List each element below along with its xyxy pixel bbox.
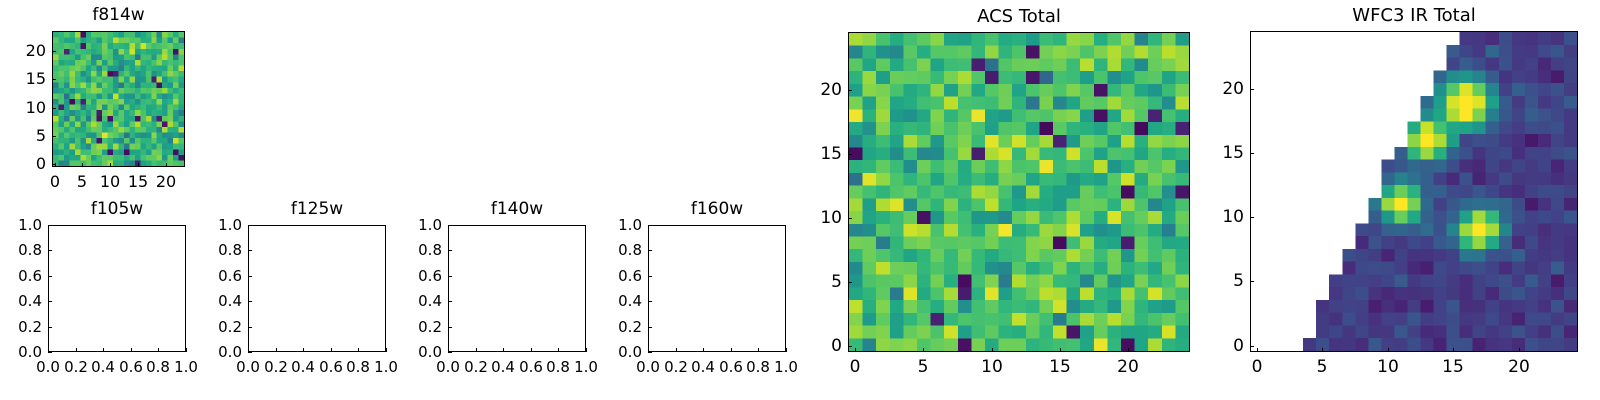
xtick-f160w-5 <box>786 348 787 352</box>
ytick-label-f125w-3: 0.6 <box>190 268 242 284</box>
xtick-label-f814w-4: 20 <box>156 174 176 190</box>
xtick-label-f125w-1: 0.2 <box>264 359 288 375</box>
xtick-label-f160w-5: 1.0 <box>774 359 798 375</box>
ytick-label-f140w-4: 0.8 <box>390 242 442 258</box>
heatmap-image-wfc3_ir_total <box>1251 32 1577 351</box>
xtick-f125w-5 <box>386 348 387 352</box>
xtick-label-wfc3_ir_total-2: 10 <box>1377 359 1399 375</box>
heatmap-image-f814w <box>53 32 184 166</box>
panel-title-f125w: f125w <box>248 201 386 218</box>
xtick-label-f125w-3: 0.6 <box>319 359 343 375</box>
ytick-label-f125w-1: 0.2 <box>190 319 242 335</box>
ytick-label-f105w-1: 0.2 <box>0 319 42 335</box>
ytick-label-f105w-3: 0.6 <box>0 268 42 284</box>
panel-title-f814w: f814w <box>52 7 185 24</box>
xtick-label-acs_total-0: 0 <box>850 359 861 375</box>
xtick-label-f140w-2: 0.4 <box>491 359 515 375</box>
ytick-f140w-2 <box>448 301 452 302</box>
ytick-f140w-4 <box>448 250 452 251</box>
ytick-f814w-2 <box>52 108 56 109</box>
ytick-f125w-5 <box>248 225 252 226</box>
xtick-label-f160w-1: 0.2 <box>664 359 688 375</box>
ytick-f140w-5 <box>448 225 452 226</box>
xtick-label-f814w-0: 0 <box>50 174 60 190</box>
ytick-acs_total-1 <box>848 282 852 283</box>
ytick-label-f125w-2: 0.4 <box>190 293 242 309</box>
xtick-f140w-4 <box>558 348 559 352</box>
plot-area-acs_total <box>848 32 1190 352</box>
panel-title-f140w: f140w <box>448 201 586 218</box>
xtick-label-f125w-4: 0.8 <box>346 359 370 375</box>
xtick-label-f160w-0: 0.0 <box>636 359 660 375</box>
ytick-f105w-1 <box>48 327 52 328</box>
ytick-f160w-5 <box>648 225 652 226</box>
ytick-f814w-4 <box>52 51 56 52</box>
ytick-f160w-1 <box>648 327 652 328</box>
xtick-label-wfc3_ir_total-1: 5 <box>1317 359 1328 375</box>
xtick-label-f125w-0: 0.0 <box>236 359 260 375</box>
ytick-label-f105w-5: 1.0 <box>0 217 42 233</box>
ytick-label-f160w-4: 0.8 <box>590 242 642 258</box>
ytick-acs_total-2 <box>848 218 852 219</box>
ytick-label-f125w-5: 1.0 <box>190 217 242 233</box>
xtick-acs_total-4 <box>1128 348 1129 352</box>
ytick-label-f160w-2: 0.4 <box>590 293 642 309</box>
ytick-label-f160w-0: 0.0 <box>590 344 642 360</box>
xtick-label-f140w-1: 0.2 <box>464 359 488 375</box>
xtick-f814w-4 <box>166 163 167 167</box>
ytick-label-f140w-3: 0.6 <box>390 268 442 284</box>
ytick-f814w-0 <box>52 164 56 165</box>
xtick-acs_total-1 <box>923 348 924 352</box>
xtick-wfc3_ir_total-0 <box>1257 348 1258 352</box>
ytick-label-f105w-2: 0.4 <box>0 293 42 309</box>
xtick-f105w-1 <box>76 348 77 352</box>
ytick-acs_total-3 <box>848 154 852 155</box>
panel-title-f160w: f160w <box>648 201 786 218</box>
ytick-f105w-5 <box>48 225 52 226</box>
xtick-label-acs_total-3: 15 <box>1049 359 1071 375</box>
ytick-label-wfc3_ir_total-4: 20 <box>1192 81 1244 97</box>
ytick-label-f125w-4: 0.8 <box>190 242 242 258</box>
xtick-label-f125w-5: 1.0 <box>374 359 398 375</box>
ytick-f140w-0 <box>448 352 452 353</box>
ytick-label-wfc3_ir_total-1: 5 <box>1192 273 1244 289</box>
plot-area-f125w <box>248 225 386 352</box>
xtick-wfc3_ir_total-3 <box>1453 348 1454 352</box>
ytick-wfc3_ir_total-2 <box>1250 217 1254 218</box>
panel-title-acs_total: ACS Total <box>848 8 1190 25</box>
ytick-label-f814w-3: 15 <box>0 71 46 87</box>
xtick-label-f814w-2: 10 <box>100 174 120 190</box>
xtick-label-f140w-5: 1.0 <box>574 359 598 375</box>
ytick-f125w-1 <box>248 327 252 328</box>
xtick-f160w-4 <box>758 348 759 352</box>
xtick-f125w-1 <box>276 348 277 352</box>
xtick-f140w-1 <box>476 348 477 352</box>
ytick-wfc3_ir_total-4 <box>1250 89 1254 90</box>
ytick-label-f814w-2: 10 <box>0 100 46 116</box>
xtick-f140w-5 <box>586 348 587 352</box>
xtick-f105w-2 <box>103 348 104 352</box>
heatmap-image-acs_total <box>849 33 1189 351</box>
xtick-f814w-3 <box>138 163 139 167</box>
xtick-label-f105w-3: 0.6 <box>119 359 143 375</box>
xtick-label-f160w-3: 0.6 <box>719 359 743 375</box>
xtick-label-acs_total-4: 20 <box>1117 359 1139 375</box>
xtick-label-wfc3_ir_total-3: 15 <box>1442 359 1464 375</box>
xtick-f160w-2 <box>703 348 704 352</box>
xtick-label-wfc3_ir_total-0: 0 <box>1252 359 1263 375</box>
ytick-label-f140w-1: 0.2 <box>390 319 442 335</box>
ytick-f814w-3 <box>52 79 56 80</box>
xtick-wfc3_ir_total-2 <box>1388 348 1389 352</box>
ytick-f125w-0 <box>248 352 252 353</box>
xtick-label-f160w-2: 0.4 <box>691 359 715 375</box>
ytick-f125w-3 <box>248 276 252 277</box>
ytick-label-f814w-0: 0 <box>0 156 46 172</box>
xtick-label-f814w-3: 15 <box>128 174 148 190</box>
xtick-f125w-3 <box>331 348 332 352</box>
ytick-label-f140w-5: 1.0 <box>390 217 442 233</box>
ytick-label-f105w-4: 0.8 <box>0 242 42 258</box>
ytick-label-f105w-0: 0.0 <box>0 344 42 360</box>
xtick-label-f160w-4: 0.8 <box>746 359 770 375</box>
ytick-f814w-1 <box>52 136 56 137</box>
ytick-label-acs_total-2: 10 <box>790 210 842 226</box>
ytick-label-acs_total-1: 5 <box>790 274 842 290</box>
xtick-label-f105w-1: 0.2 <box>64 359 88 375</box>
xtick-label-f140w-3: 0.6 <box>519 359 543 375</box>
xtick-f814w-1 <box>82 163 83 167</box>
ytick-label-f140w-2: 0.4 <box>390 293 442 309</box>
xtick-label-f125w-2: 0.4 <box>291 359 315 375</box>
xtick-f105w-4 <box>158 348 159 352</box>
xtick-acs_total-0 <box>855 348 856 352</box>
ytick-f160w-2 <box>648 301 652 302</box>
xtick-acs_total-2 <box>992 348 993 352</box>
xtick-f160w-3 <box>731 348 732 352</box>
xtick-label-f105w-4: 0.8 <box>146 359 170 375</box>
ytick-f140w-1 <box>448 327 452 328</box>
ytick-f125w-4 <box>248 250 252 251</box>
xtick-label-acs_total-1: 5 <box>918 359 929 375</box>
ytick-f105w-2 <box>48 301 52 302</box>
xtick-f160w-1 <box>676 348 677 352</box>
plot-area-f814w <box>52 31 185 167</box>
ytick-label-acs_total-3: 15 <box>790 146 842 162</box>
xtick-f140w-2 <box>503 348 504 352</box>
ytick-label-wfc3_ir_total-0: 0 <box>1192 338 1244 354</box>
ytick-acs_total-4 <box>848 90 852 91</box>
ytick-f105w-4 <box>48 250 52 251</box>
xtick-label-f105w-2: 0.4 <box>91 359 115 375</box>
xtick-f125w-2 <box>303 348 304 352</box>
ytick-label-f125w-0: 0.0 <box>190 344 242 360</box>
plot-area-f105w <box>48 225 186 352</box>
ytick-label-wfc3_ir_total-2: 10 <box>1192 209 1244 225</box>
ytick-label-f814w-4: 20 <box>0 43 46 59</box>
xtick-label-f814w-1: 5 <box>77 174 87 190</box>
ytick-f160w-4 <box>648 250 652 251</box>
plot-area-f160w <box>648 225 786 352</box>
xtick-label-f140w-4: 0.8 <box>546 359 570 375</box>
xtick-label-f140w-0: 0.0 <box>436 359 460 375</box>
ytick-label-acs_total-4: 20 <box>790 82 842 98</box>
xtick-acs_total-3 <box>1060 348 1061 352</box>
panel-title-f105w: f105w <box>48 201 186 218</box>
ytick-f160w-3 <box>648 276 652 277</box>
xtick-f140w-3 <box>531 348 532 352</box>
ytick-f105w-3 <box>48 276 52 277</box>
xtick-f105w-5 <box>186 348 187 352</box>
ytick-label-f814w-1: 5 <box>0 128 46 144</box>
ytick-label-wfc3_ir_total-3: 15 <box>1192 145 1244 161</box>
xtick-f125w-4 <box>358 348 359 352</box>
ytick-label-f160w-3: 0.6 <box>590 268 642 284</box>
ytick-label-f160w-1: 0.2 <box>590 319 642 335</box>
ytick-acs_total-0 <box>848 346 852 347</box>
plot-area-wfc3_ir_total <box>1250 31 1578 352</box>
xtick-f814w-2 <box>110 163 111 167</box>
ytick-wfc3_ir_total-0 <box>1250 346 1254 347</box>
xtick-f105w-3 <box>131 348 132 352</box>
ytick-label-acs_total-0: 0 <box>790 338 842 354</box>
xtick-label-f105w-0: 0.0 <box>36 359 60 375</box>
xtick-wfc3_ir_total-1 <box>1322 348 1323 352</box>
xtick-label-wfc3_ir_total-4: 20 <box>1508 359 1530 375</box>
ytick-f105w-0 <box>48 352 52 353</box>
ytick-wfc3_ir_total-3 <box>1250 153 1254 154</box>
panel-title-wfc3_ir_total: WFC3 IR Total <box>1250 7 1578 24</box>
ytick-f160w-0 <box>648 352 652 353</box>
xtick-label-acs_total-2: 10 <box>981 359 1003 375</box>
plot-area-f140w <box>448 225 586 352</box>
ytick-f140w-3 <box>448 276 452 277</box>
ytick-label-f160w-5: 1.0 <box>590 217 642 233</box>
ytick-label-f140w-0: 0.0 <box>390 344 442 360</box>
ytick-wfc3_ir_total-1 <box>1250 281 1254 282</box>
xtick-wfc3_ir_total-4 <box>1519 348 1520 352</box>
ytick-f125w-2 <box>248 301 252 302</box>
xtick-label-f105w-5: 1.0 <box>174 359 198 375</box>
